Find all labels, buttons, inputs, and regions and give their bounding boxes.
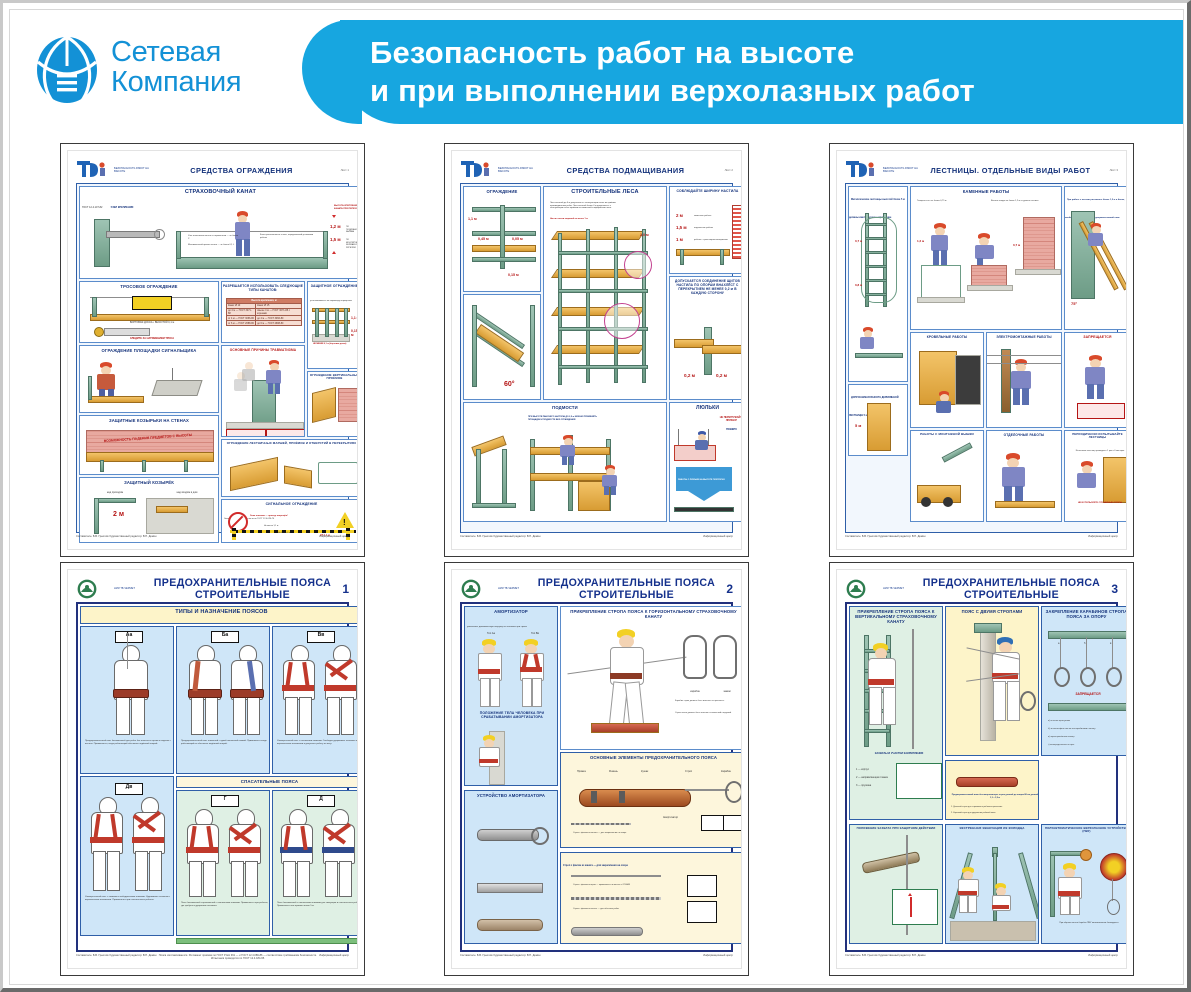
poster-footer: Составитель: Б.В. Грызлов Художественный… <box>460 954 733 966</box>
person-silhouette-back <box>225 809 263 895</box>
belt-code-label: Дв <box>115 783 143 795</box>
footer-right: Информационный центр <box>319 535 349 547</box>
canopy-label-1: над проходом <box>88 490 142 495</box>
badge-subtitle: БЕЗОПАСНОСТЬ РАБОТ НА ВЫСОТЕ <box>883 167 921 173</box>
poster-number: 1 <box>333 582 349 596</box>
scaffold-post-right <box>530 305 535 387</box>
climbing-worker <box>864 643 898 725</box>
mount-frame <box>1050 851 1055 917</box>
section-subtitle: устанавливается по периметру перекрытия <box>308 299 354 303</box>
footer-left: Составитель: Б.В. Грызлов Художественный… <box>460 535 540 547</box>
poster-content: ПРИКРЕПЛЕНИЕ СТРОПА ПОЯСА К ВЕРТИКАЛЬНОМ… <box>845 602 1118 952</box>
rope-dim-1-value: 1,2 м <box>330 224 341 229</box>
finisher-worker <box>999 453 1029 501</box>
fence-post-right <box>204 297 209 317</box>
roofer-worker <box>935 391 955 417</box>
section-wooden-ladder-height: ДОПУСКАЕМАЯ ВЫСОТА ДЕРЕВЯННОЙ ЛЕСТНИЦЫ 5… <box>848 384 908 456</box>
cause-caption-1 <box>226 429 266 437</box>
carabiner-note-2: Строп с фалом из ленты — для обычных раб… <box>571 907 675 912</box>
grab-part-3: 3 — пружина <box>854 783 873 788</box>
network-globe-logo-icon <box>35 32 99 104</box>
prohibited-beam <box>1048 703 1127 711</box>
section-overlap-joint: ДОПУСКАЕТСЯ СОЕДИНЕНИЕ ЩИТОВ НАСТИЛА ПО … <box>669 276 742 400</box>
belt-type-description: Предохранительный пояс лямочный с одной … <box>179 739 270 747</box>
person-silhouette-front <box>87 797 125 889</box>
section-ladder-angle: При работе с лестниц на высоте более 1,3… <box>1064 186 1127 330</box>
person-silhouette-back <box>321 645 358 733</box>
rescue-belt-cell-g: Г <box>176 790 270 936</box>
cause-caption-2 <box>266 429 305 437</box>
absorber-tape-illustration <box>477 873 547 903</box>
belt-carabiner-icon <box>725 781 742 803</box>
fence-dim-2: 0,15 м <box>351 329 358 337</box>
info-banner-arrow: РАБОТЫ С ЛЮЛЬКИ НА ВЫСОТЕ ПОВТОРНО ДОЛЖН… <box>676 467 732 491</box>
prohibited-item-2: б) за петли фала так же как карабинами к… <box>1046 727 1127 732</box>
fixing-label-c: в <box>1108 641 1113 646</box>
poster-sheet: НИИ ТБ ЧЕРМЕТ ПРЕДОХРАНИТЕЛЬНЫЕ ПОЯСА СТ… <box>451 569 742 969</box>
detail-callout-mid <box>604 303 640 339</box>
beam-support <box>591 723 659 733</box>
sling-length-item-1: 1. Длинный строп для страховки и рабочег… <box>949 805 1039 810</box>
footer-right: Информационный центр <box>703 535 733 547</box>
badge-subtitle: НИИ ТБ ЧЕРМЕТ <box>883 587 921 590</box>
section-grab-position: ПОЛОЖЕНИЕ ЗАХВАТА ПРИ ЗАЩИТНОМ ДЕЙСТВИИ <box>849 824 943 944</box>
section-canopy: ЗАЩИТНЫЙ КОЗЫРЁК над проходом над входом… <box>79 477 219 543</box>
brand-line-1: Сетевая <box>111 38 241 68</box>
cradle-note: ПОВЕРХ <box>714 427 742 432</box>
carabiner-detail-box-2 <box>723 815 742 831</box>
badge-subtitle: БЕЗОПАСНОСТЬ РАБОТ НА ВЫСОТЕ <box>498 167 536 173</box>
masonry-dim-2: 0,7 м <box>1013 243 1020 247</box>
poster-title: ПРЕДОХРАНИТЕЛЬНЫЕ ПОЯСА СТРОИТЕЛЬНЫЕ <box>921 577 1102 601</box>
carabiner-diagram-2 <box>687 901 717 923</box>
section-title: ПОЛОЖЕНИЕ ЗАХВАТА ПРИ ЗАЩИТНОМ ДЕЙСТВИИ <box>850 825 942 830</box>
table-cell: до 4 м — ГОСТ 3071-88 <box>227 308 256 316</box>
prohibited-item-3: в) через крепёжные кольца <box>1046 735 1127 740</box>
canopy-board-illustration <box>86 452 214 462</box>
person-silhouette-front <box>185 645 223 733</box>
deck-dim-3-label: работы с транспортом материалов <box>692 238 734 243</box>
pvu-note: При обрыве каната барабан ПВУ автоматиче… <box>1045 921 1127 926</box>
stair-rail-illustration <box>318 462 358 484</box>
element-label-5: Карабин <box>719 769 733 774</box>
rescue-belt-description: Пояс безлямочный страховочный с наплечны… <box>179 901 270 909</box>
section-shock-absorber: АМОРТИЗАТОР уменьшает динамическую нагру… <box>464 606 558 786</box>
belt-sling-rope <box>685 789 729 791</box>
section-roof-works: КРОВЕЛЬНЫЕ РАБОТЫ <box>910 332 984 428</box>
badge-subtitle: НИИ ТБ ЧЕРМЕТ <box>498 587 536 590</box>
scaffold-note-2: Настил лесов шириной не менее 1 м <box>548 217 624 222</box>
poster-title: ЛЕСТНИЦЫ. ОТДЕЛЬНЫЕ ВИДЫ РАБОТ <box>921 166 1100 175</box>
poster-footer: Составитель: Б.В. Грызлов Художественный… <box>76 954 349 966</box>
up-arrow-icon <box>908 893 912 896</box>
poster-sheet: БЕЗОПАСНОСТЬ РАБОТ НА ВЫСОТЕ СРЕДСТВА ПО… <box>451 150 742 550</box>
mobile-ladder-illustration <box>470 437 518 511</box>
person-silhouette-front <box>279 645 317 733</box>
worker-on-platform <box>859 327 877 355</box>
rope-note-2: Максимальный провес каната — не более 0,… <box>186 243 242 248</box>
poster-footer: Составитель: Б.В. Грызлов Художественный… <box>76 535 349 547</box>
poster-footer: Составитель: Б.В. Грызлов Художественный… <box>845 535 1118 547</box>
poster-content: СТРАХОВОЧНЫЙ КАНАТ ГОСТ 12.4.107-82 УЗЕЛ… <box>76 183 349 533</box>
wooden-ladder-dim: 5 м <box>855 423 861 428</box>
rope-dim-2-value: 1,5 м <box>330 237 341 242</box>
tb-safety-badge-icon <box>845 159 879 181</box>
canopy-label-2: над входом в дом <box>158 490 216 495</box>
person-silhouette-back <box>227 645 265 733</box>
footer-left: Составитель: Б.В. Грызлов Художественный… <box>460 954 540 966</box>
deck-dim-1-label: каменные работы <box>692 214 734 219</box>
footer-left: Составитель: Б.В. Грызлов Художественный… <box>76 954 156 966</box>
sling-rope <box>127 635 128 669</box>
belt-code-label: Аа <box>115 631 143 643</box>
signal-note-1: Зона опасная — проход запрещён! <box>248 514 292 519</box>
person-silhouette-back <box>129 797 167 889</box>
masonry-note-2: Высота кладки не более 1,2 м от уровня н… <box>989 199 1061 204</box>
pole-cap <box>974 623 1002 633</box>
section-sling-to-horizontal-rope: ПРИКРЕПЛЕНИЕ СТРОПА ПОЯСА К ГОРИЗОНТАЛЬН… <box>560 606 742 750</box>
element-label-6: Амортизатор <box>661 815 680 820</box>
section-scaffold-towers: ПОДМОСТИ ПРИ ВЫСОТЕ РАБОЧЕГО НАСТИЛА ДО … <box>463 402 667 522</box>
rope-note-1: Угол отклонения каната от горизонтали — … <box>186 234 242 241</box>
mounting-truck-illustration <box>917 455 979 511</box>
belt-type-description: Универсальный пояс с плечевыми лямками. … <box>275 739 358 747</box>
section-title: ЗАЩИТНОЕ ОГРАЖДЕНИЕ <box>308 282 358 288</box>
poster-guarding[interactable]: БЕЗОПАСНОСТЬ РАБОТ НА ВЫСОТЕ СРЕДСТВА ОГ… <box>60 143 365 557</box>
section-title: УСТРОЙСТВО АМОРТИЗАТОРА <box>465 791 557 798</box>
ground-3 <box>1015 269 1061 275</box>
rope-post-right <box>323 231 328 259</box>
brick-wall-1 <box>971 265 1007 287</box>
poster-header: НИИ ТБ ЧЕРМЕТ ПРЕДОХРАНИТЕЛЬНЫЕ ПОЯСА СТ… <box>76 576 349 602</box>
footer-left: Составитель: Б.В. Грызлов Художественный… <box>845 535 925 547</box>
section-subtitle: уменьшает динамическую нагрузку на челов… <box>465 625 529 629</box>
rail-post-2 <box>325 308 329 337</box>
platform-illustration <box>855 353 903 358</box>
vniitbchermet-badge-icon <box>845 578 879 600</box>
chain-sling-illustration <box>571 823 631 825</box>
poster-footer: Составитель: Б.В. Грызлов Художественный… <box>845 954 1118 966</box>
section-title: РАЗРЕШАЕТСЯ ИСПОЛЬЗОВАТЬ СЛЕДУЮЩИЕ ТИПЫ … <box>222 282 304 292</box>
section-belt-types-header: ТИПЫ И НАЗНАЧЕНИЕ ПОЯСОВ ПОЯСА ДЛЯ ЗАЩИТ… <box>80 606 358 624</box>
section-scaffold-stairs: 60° <box>463 294 541 400</box>
platform-illustration <box>88 396 144 403</box>
rescue-belt-cell-d: Д <box>272 790 358 936</box>
carabiner-diagram-1 <box>687 875 717 897</box>
falling-worker-2 <box>240 362 258 388</box>
poster-header: БЕЗОПАСНОСТЬ РАБОТ НА ВЫСОТЕ СРЕДСТВА ПО… <box>460 157 733 183</box>
force-arrow <box>910 897 912 917</box>
poster-belts-3[interactable]: НИИ ТБ ЧЕРМЕТ ПРЕДОХРАНИТЕЛЬНЫЕ ПОЯСА СТ… <box>829 562 1134 976</box>
section-ladder-test: ПЕРИОДИЧЕСКИ ИСПЫТЫВАЙТЕ ЛЕСТНИЦЫ Испыта… <box>1064 430 1127 522</box>
section-title: СИГНАЛЬНОЕ ОГРАЖДЕНИЕ <box>222 500 358 506</box>
footer-right: Информационный центр <box>703 954 733 966</box>
section-title: ОГРАЖДЕНИЕ ПЛОЩАДКИ СИГНАЛЬЩИКА <box>80 346 218 353</box>
canopy-frame-illustration <box>94 498 136 503</box>
workbench-illustration <box>995 501 1055 508</box>
worker-climbing <box>1087 223 1107 255</box>
power-line-2 <box>987 363 1062 364</box>
badge-subtitle: БЕЗОПАСНОСТЬ РАБОТ НА ВЫСОТЕ <box>114 167 152 173</box>
section-guardrail: ОГРАЖДЕНИЕ 1,1 м 0,45 м 0,05 м 0,15 м <box>463 186 541 292</box>
section-cradle: ЛЮЛЬКИ НЕ ПЕРЕГРУЖАЙТЕ ЛЮЛЬКУ! ПОВЕРХ <box>669 402 742 522</box>
poster-content: ОГРАЖДЕНИЕ 1,1 м 0,45 м 0,05 м 0,15 м <box>460 183 733 533</box>
carabiner-label-1: карабин <box>679 689 711 694</box>
belt-type-cell-vv: Вв <box>272 626 358 774</box>
grab-part-2: 2 — направляющая планка <box>854 775 890 780</box>
ground-2 <box>967 285 1013 291</box>
test-ladder-illustration <box>1103 457 1127 503</box>
entrance-canopy-illustration <box>156 506 188 513</box>
masonry-note-1: Толщина стен не более 0,75 м <box>915 199 985 204</box>
section-prohibited: ЗАПРЕЩАЕТСЯ <box>1064 332 1127 428</box>
section-title: ТРОСОВОЕ ОГРАЖДЕНИЕ <box>80 282 218 289</box>
sling-note-1: Карабин строп должен быть испытан на про… <box>673 699 742 704</box>
carabiner-label-2: зажим <box>711 689 742 694</box>
prohibited-title: ЗАПРЕЩАЕТСЯ <box>1046 691 1127 697</box>
poster-header: БЕЗОПАСНОСТЬ РАБОТ НА ВЫСОТЕ ЛЕСТНИЦЫ. О… <box>845 157 1118 183</box>
poster-title: ПРЕДОХРАНИТЕЛЬНЫЕ ПОЯСА СТРОИТЕЛЬНЫЕ <box>536 577 717 601</box>
sling-length-title: Предохранительный пояс без амортизатора:… <box>948 793 1039 800</box>
suspended-load-illustration <box>152 368 202 402</box>
rescue-belt-description: Универсальный пояс с лямками и набедренн… <box>83 895 174 903</box>
footer-right: Информационный центр <box>1088 954 1118 966</box>
poster-title: ПРЕДОХРАНИТЕЛЬНЫЕ ПОЯСА СТРОИТЕЛЬНЫЕ <box>152 577 333 601</box>
sling-illustration <box>956 769 1030 793</box>
stair-landing-illustration <box>230 457 278 491</box>
suspended-worker <box>477 735 501 779</box>
knot-label: УЗЕЛ КРЕПЛЕНИЯ <box>98 205 146 210</box>
guardrail-dim-1: 1,1 м <box>468 217 477 221</box>
absorber-cord-illustration <box>477 909 547 939</box>
power-line-1 <box>987 355 1062 356</box>
absorber-worker-2 <box>517 639 545 705</box>
overlap-dim-2: 0,2 м <box>716 373 727 378</box>
page-title-line-2: и при выполнении верхолазных работ <box>370 72 1170 110</box>
rescued-worker <box>990 883 1012 917</box>
poster-header: НИИ ТБ ЧЕРМЕТ ПРЕДОХРАНИТЕЛЬНЫЕ ПОЯСА СТ… <box>460 576 733 602</box>
mason-worker-2 <box>973 233 997 269</box>
section-title: ПОЯС С ДВУМЯ СТРОПАМИ <box>946 607 1038 614</box>
scaffold-post-left <box>472 305 477 387</box>
section-title: ЗАЩИТНЫЕ КОЗЫРЬКИ НА СТЕНАХ <box>80 416 218 423</box>
green-strip <box>176 938 358 944</box>
towers-note: ПРИ ВЫСОТЕ РАБОЧЕГО НАСТИЛА ДО 2,5 м МОЖ… <box>526 415 610 422</box>
section-title: ПОЛУАВТОМАТИЧЕСКОЕ ВЕРХОЛАЗНОЕ УСТРОЙСТВ… <box>1042 825 1127 833</box>
fence-dim-1: 1,1 м <box>351 316 358 320</box>
person-silhouette-illustration <box>109 645 149 733</box>
masonry-dim-1: 1,2 м <box>917 239 924 243</box>
section-title: ЭКСТРЕННАЯ ЭВАКУАЦИЯ ИЗ КОЛОДЦА <box>946 825 1038 830</box>
grab-parts-title: ЗАХВАТЫ И УЧАСТКИ ЗАКРЕПЛЕНИЯ <box>854 751 943 756</box>
guardrail-dim-3: 0,05 м <box>512 237 523 241</box>
poster-belts-1[interactable]: НИИ ТБ ЧЕРМЕТ ПРЕДОХРАНИТЕЛЬНЫЕ ПОЯСА СТ… <box>60 562 365 976</box>
rescue-belt-cell-dv: Дв <box>80 776 174 936</box>
warning-placard <box>132 296 172 310</box>
grab-part-1: 1 — корпус <box>854 767 871 772</box>
page-canvas: Сетевая Компания Безопасность работ на в… <box>9 9 1184 985</box>
fixing-label-a: а <box>1056 641 1061 646</box>
poster-ladders[interactable]: БЕЗОПАСНОСТЬ РАБОТ НА ВЫСОТЕ ЛЕСТНИЦЫ. О… <box>829 143 1134 557</box>
section-protective-fencing: ЗАЩИТНОЕ ОГРАЖДЕНИЕ устанавливается по п… <box>307 281 358 369</box>
ground-illustration <box>950 921 1036 941</box>
poster-corner-label: Лист 3 <box>1100 168 1118 172</box>
canopy-bracket-3 <box>184 460 188 472</box>
deck-dim-1-value: 2 м <box>676 213 683 218</box>
rope-dim-1-label: ПО ПОДКРАНОВЫМ БАЛКАМ <box>344 225 358 235</box>
no-unstable-support-title: НЕ ИСПОЛЬЗУЙТЕ СЛУЧАЙНЫЕ ОПОРЫ <box>1068 501 1127 506</box>
section-title: ЛЮЛЬКИ <box>670 403 742 411</box>
rail-post-3 <box>335 308 339 337</box>
section-title: ОСНОВНЫЕ ЭЛЕМЕНТЫ ПРЕДОХРАНИТЕЛЬНОГО ПОЯ… <box>561 753 742 760</box>
element-label-1: Пряжка <box>575 769 588 774</box>
rope-sling-illustration <box>571 875 661 877</box>
section-title: ПРИКРЕПЛЕНИЕ СТРОПА ПОЯСА К ГОРИЗОНТАЛЬН… <box>561 607 742 619</box>
belt-body-illustration <box>579 779 689 813</box>
section-belt-two-slings: ПОЯС С ДВУМЯ СТРОПАМИ <box>945 606 1039 756</box>
rope-type-table: Высота крепления, м Канат Ø 10 Канат Ø 1… <box>226 298 302 326</box>
rope-clamp-illustration <box>106 231 160 238</box>
worker-climbing-tower <box>600 465 620 495</box>
footer-right: Информационный центр <box>319 954 349 966</box>
poster-number: 3 <box>1102 582 1118 596</box>
section-title: АМОРТИЗАТОР <box>465 607 557 614</box>
footer-standard-note: Пояса изготавливаются. Регламент приёмки… <box>156 954 319 966</box>
prohibited-item-1: а) за канат цепи узлом <box>1046 719 1127 724</box>
footer-left: Составитель: Б.В. Грызлов Художественный… <box>845 954 925 966</box>
canopy-dim: 2 м <box>113 511 124 518</box>
tb-safety-badge-icon <box>76 159 110 181</box>
page-title: Безопасность работ на высоте и при выпол… <box>370 34 1170 111</box>
ladder-angle-dim: 75° <box>1071 301 1077 306</box>
opening-cover-illustration <box>284 466 312 489</box>
deck-post-left <box>680 249 684 265</box>
belt-type-cell-aa: Аа Предохранительный пояс безлямочный дл… <box>80 626 174 774</box>
footer-right: Информационный центр <box>1088 535 1118 547</box>
worker-on-tower <box>558 435 578 465</box>
section-fall-causes: ОСНОВНЫЕ ПРИЧИНЫ ТРАВМАТИЗМА <box>221 345 305 437</box>
section-cable-fencing: ТРОСОВОЕ ОГРАЖДЕНИЕ БОРТОВАЯ ДОСКА • ВЫС… <box>79 281 219 343</box>
brick-wall-2 <box>1023 217 1055 271</box>
section-title: КРОВЕЛЬНЫЕ РАБОТЫ <box>911 333 983 339</box>
prohibition-placard <box>1077 403 1125 419</box>
no-entry-icon <box>228 512 248 532</box>
detail-callout-top <box>624 251 652 279</box>
fixing-label-b: б <box>1082 641 1087 646</box>
mason-scaffold-1 <box>921 265 961 299</box>
section-title: ПРИКРЕПЛЕНИЕ СТРОПА ПОЯСА К ВЕРТИКАЛЬНОМ… <box>850 607 942 624</box>
ladder-angle-note <box>1105 239 1127 241</box>
rescuer-worker <box>956 867 980 911</box>
rail-post-4 <box>344 308 348 337</box>
poster-title: СРЕДСТВА ОГРАЖДЕНИЯ <box>152 166 331 175</box>
body-position-title: ПОЛОЖЕНИЕ ТЕЛА ЧЕЛОВЕКА ПРИ СРАБАТЫВАНИИ… <box>467 709 557 719</box>
poster-title: СРЕДСТВА ПОДМАЩИВАНИЯ <box>536 166 715 175</box>
testing-worker <box>1075 461 1099 495</box>
table-cell: до 6 м — ГОСТ 2688-80 <box>256 321 302 326</box>
window-frame: Сетевая Компания Безопасность работ на в… <box>0 0 1191 992</box>
section-title: ОГРАЖДЕНИЕ <box>464 187 540 194</box>
rescue-belt-description: Пояс безлямочный с наплечными лямками дл… <box>275 901 358 909</box>
poster-content: АМОРТИЗАТОР уменьшает динамическую нагру… <box>460 602 733 952</box>
rope-callout: Канат располагается в зоне, определяемой… <box>258 233 318 240</box>
belt-type-description: Предохранительный пояс безлямочный для р… <box>83 739 174 747</box>
section-finishing-works: ОТДЕЛОЧНЫЕ РАБОТЫ <box>986 430 1062 522</box>
sling-note-2: Строп пояса должен быть испытан статичес… <box>673 711 742 716</box>
grab-device-illustration <box>862 843 932 883</box>
section-title: СПАСАТЕЛЬНЫЕ ПОЯСА <box>177 777 358 784</box>
pole-worker <box>988 637 1022 721</box>
grab-detail-box <box>896 763 942 799</box>
sling-type-note: Строп с фалом из каната — для закреплени… <box>571 831 695 836</box>
footer-left: Составитель: Б.В. Грызлов Художественный… <box>76 535 156 547</box>
section-carabiner-types: Строп с фалом из каната — для закреплени… <box>560 852 742 944</box>
ground-1 <box>917 297 965 303</box>
page-title-line-1: Безопасность работ на высоте <box>370 34 1170 72</box>
mason-worker-1 <box>929 223 951 265</box>
poster-corner-label: Лист 2 <box>715 168 733 172</box>
section-title: СТРАХОВОЧНЫЙ КАНАТ <box>80 187 358 195</box>
worker-standing-on-beam <box>605 629 647 725</box>
deck-board-right <box>702 345 742 354</box>
section-safety-rope: СТРАХОВОЧНЫЙ КАНАТ ГОСТ 12.4.107-82 УЗЕЛ… <box>79 186 358 279</box>
section-mounting-platform: РАБОТЫ С МОНТАЖНОЙ ВЫШКИ <box>910 430 984 522</box>
table-cell: от 6 м — ГОСТ 2688-80 <box>227 321 256 326</box>
section-title: ДОПУСКАЕТСЯ СОЕДИНЕНИЕ ЩИТОВ НАСТИЛА ПО … <box>670 277 742 295</box>
clamp-eye-icon <box>154 229 165 240</box>
belt-type-cell-ba: Ба <box>176 626 270 774</box>
canopy-post <box>94 498 99 534</box>
cradle-ground <box>674 507 734 512</box>
table-cell: свыше 4 м — ГОСТ 3071-88 с коушами <box>256 308 302 316</box>
person-silhouette-back <box>319 809 357 895</box>
section-stair-openings: ОГРАЖДЕНИЕ ЛЕСТНИЧНЫХ МАРШЕЙ, ПРОЁМОВ И … <box>221 439 358 497</box>
section-building-scaffolds: СТРОИТЕЛЬНЫЕ ЛЕСА Леса высотой до 4 м до… <box>543 186 667 400</box>
section-title: КАМЕННЫЕ РАБОТЫ <box>911 187 1061 194</box>
person-silhouette-front <box>277 809 315 895</box>
deck-post-right <box>720 249 724 265</box>
carabiner-type-title: Строп с фалом из каната — для закреплени… <box>561 863 630 868</box>
section-semi-automatic-device: ПОЛУАВТОМАТИЧЕСКОЕ ВЕРХОЛАЗНОЕ УСТРОЙСТВ… <box>1041 824 1127 944</box>
poster-content: Металлические лестницы высотой более 5 м… <box>845 183 1118 533</box>
carabiner-icon-b <box>1080 667 1096 687</box>
brand-logo-block: Сетевая Компания <box>35 28 335 108</box>
carabiner-icon-c <box>1106 667 1122 687</box>
section-fixed-metal-ladder: Металлические лестницы высотой более 5 м… <box>848 186 908 382</box>
cable-note-1: БОРТОВАЯ ДОСКА • ВЫСОТОЙ 0,1 м <box>86 320 218 325</box>
belt-code-label: Вв <box>307 631 335 643</box>
deck-beam <box>472 257 536 262</box>
platform-rail <box>88 376 92 400</box>
poster-belts-2[interactable]: НИИ ТБ ЧЕРМЕТ ПРЕДОХРАНИТЕЛЬНЫЕ ПОЯСА СТ… <box>444 562 749 976</box>
column-illustration <box>94 219 110 267</box>
section-title: ЗАПРЕЩАЕТСЯ <box>1065 333 1127 339</box>
poster-scaffolds[interactable]: БЕЗОПАСНОСТЬ РАБОТ НА ВЫСОТЕ СРЕДСТВА ПО… <box>444 143 749 557</box>
down-arrow-icon <box>332 215 336 218</box>
test-note: Испытание лестниц проводится 1 раз в 6 м… <box>1068 449 1127 454</box>
rope-post-left <box>176 231 181 259</box>
up-arrow-icon <box>332 251 336 254</box>
poster-header: НИИ ТБ ЧЕРМЕТ ПРЕДОХРАНИТЕЛЬНЫЕ ПОЯСА СТ… <box>845 576 1118 602</box>
rope-right-note: ВЫСОТА КРЕПЛЕНИЯ КАНАТА ПРИ ПЕРЕХОДЕ <box>332 204 358 212</box>
building-illustration <box>146 498 214 534</box>
deck-dim-2-value: 1,5 м <box>676 225 687 230</box>
section-sling-lengths: Предохранительный пояс без амортизатора:… <box>945 760 1039 820</box>
overlap-dim-1: 0,2 м <box>684 373 695 378</box>
grab-action-box <box>892 889 938 925</box>
ladder-dim-2: 0,8 м <box>855 283 862 287</box>
prohibited-item-4: г) непосредственно за трос <box>1046 743 1127 748</box>
